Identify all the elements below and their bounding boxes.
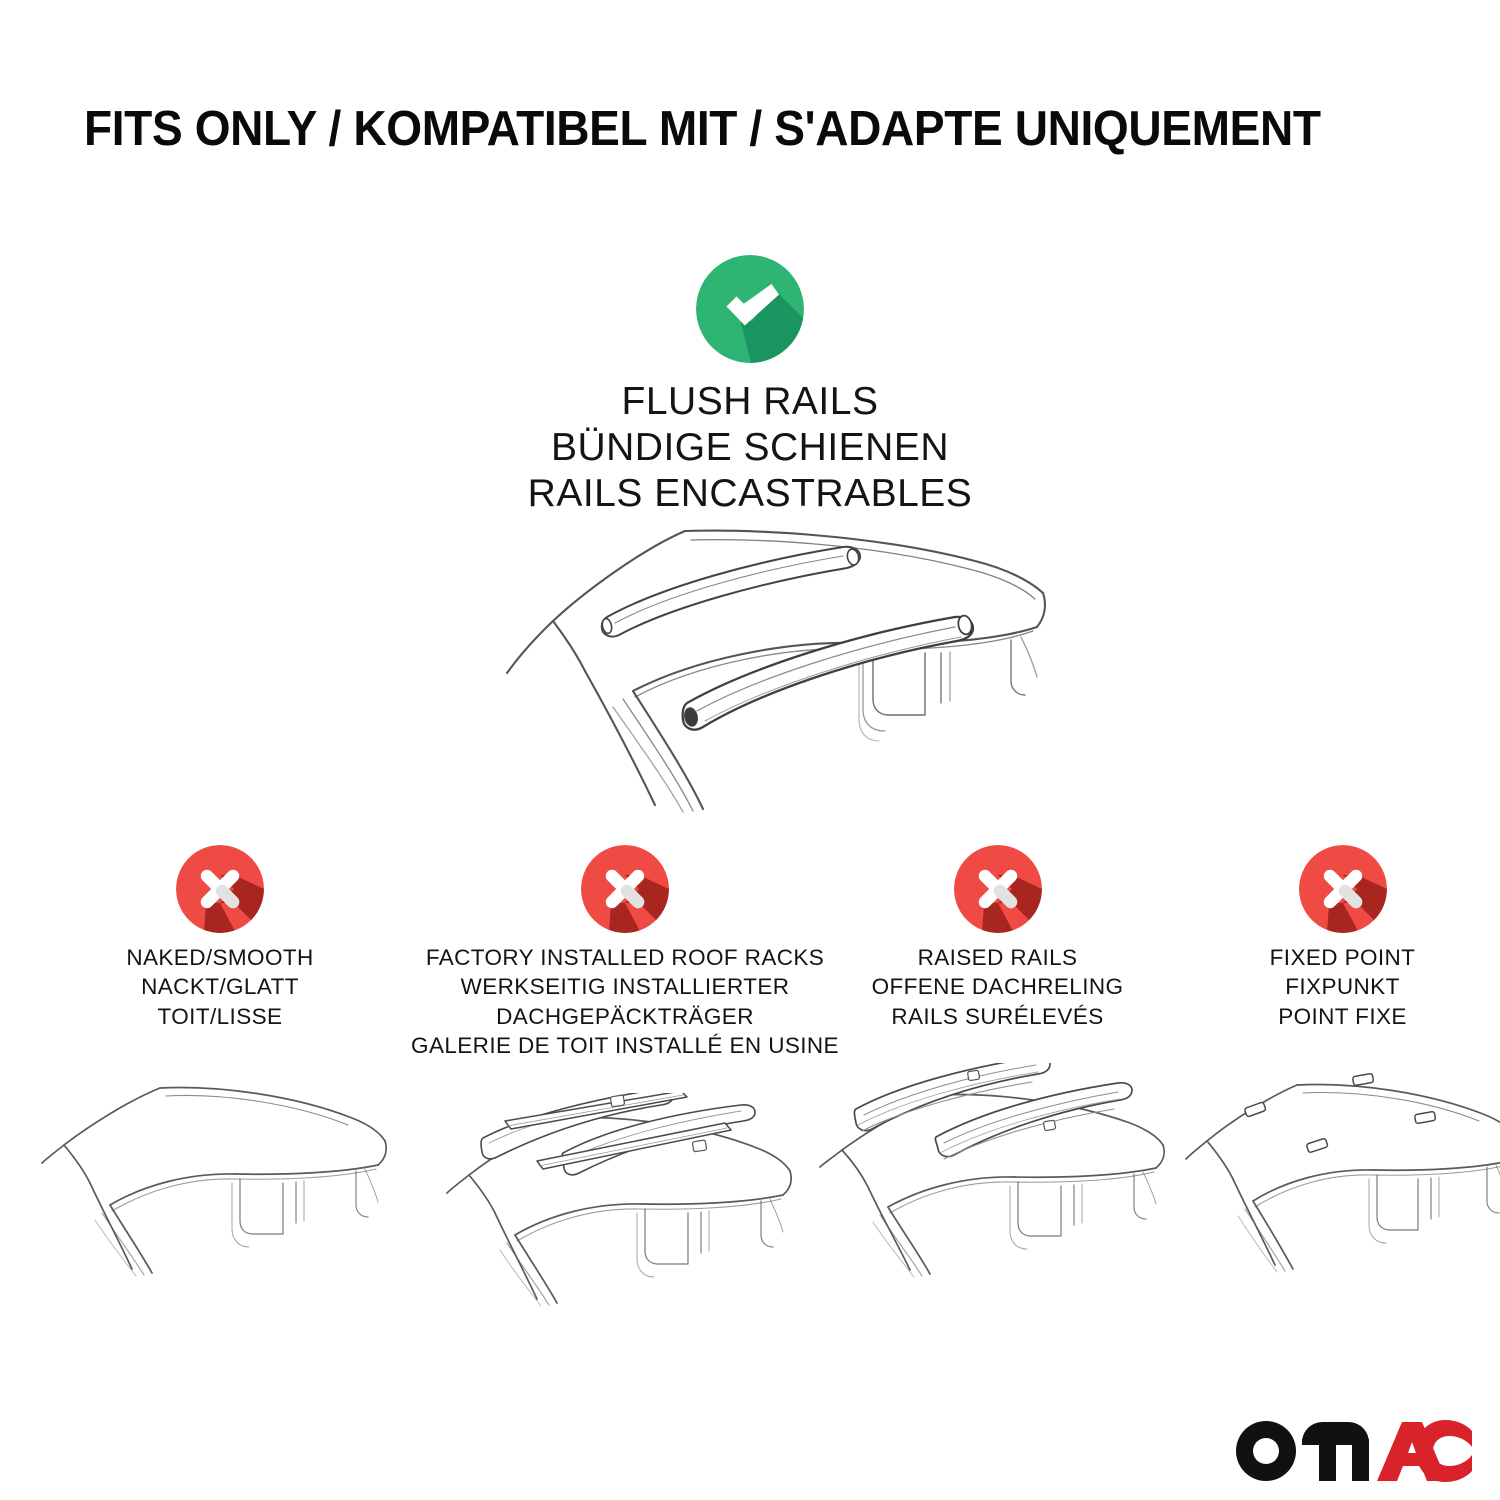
- label-line-1: FIXED POINT: [1270, 943, 1416, 972]
- cross-circle-icon: [581, 845, 669, 933]
- logo-letter-m: [1302, 1422, 1369, 1481]
- cross-circle-icon: [1299, 845, 1387, 933]
- label-line-4: GALERIE DE TOIT INSTALLÉ EN USINE: [411, 1031, 839, 1060]
- label-line-3: DACHGEPÄCKTRÄGER: [411, 1002, 839, 1031]
- label-line-3: TOIT/LISSE: [126, 1002, 313, 1031]
- incompatible-section: NAKED/SMOOTH NACKT/GLATT TOIT/LISSE: [0, 845, 1500, 1060]
- cross-circle-icon: [954, 845, 1042, 933]
- label-line-1: FACTORY INSTALLED ROOF RACKS: [411, 943, 839, 972]
- car-roof-flush-rails-illustration: [455, 513, 1075, 813]
- label-line-2: FIXPUNKT: [1270, 972, 1416, 1001]
- label-line-2: NACKT/GLATT: [126, 972, 313, 1001]
- car-roof-fixed-point-illustration: [1185, 1063, 1500, 1278]
- page-title: FITS ONLY / KOMPATIBEL MIT / S'ADAPTE UN…: [84, 104, 1344, 155]
- incompatible-label: FIXED POINT FIXPUNKT POINT FIXE: [1270, 943, 1416, 1031]
- label-line-1: RAISED RAILS: [872, 943, 1124, 972]
- car-roof-naked-smooth-illustration: [0, 1063, 440, 1278]
- incompatible-label: NAKED/SMOOTH NACKT/GLATT TOIT/LISSE: [126, 943, 313, 1031]
- compatible-label: FLUSH RAILS BÜNDIGE SCHIENEN RAILS ENCAS…: [0, 379, 1500, 517]
- incompatible-item-raised-rails: RAISED RAILS OFFENE DACHRELING RAILS SUR…: [810, 845, 1185, 1060]
- cross-circle-icon: [176, 845, 264, 933]
- label-line-3: POINT FIXE: [1270, 1002, 1416, 1031]
- omac-logo: [1232, 1409, 1472, 1485]
- fitment-infographic: FITS ONLY / KOMPATIBEL MIT / S'ADAPTE UN…: [0, 0, 1500, 1500]
- car-roof-raised-rails-illustration: [810, 1063, 1185, 1278]
- logo-letter-c: [1416, 1420, 1472, 1482]
- incompatible-item-factory-roof-racks: FACTORY INSTALLED ROOF RACKS WERKSEITIG …: [440, 845, 810, 1060]
- incompatible-item-fixed-point: FIXED POINT FIXPUNKT POINT FIXE: [1185, 845, 1500, 1060]
- compatible-label-line-2: BÜNDIGE SCHIENEN: [0, 425, 1500, 471]
- label-line-2: OFFENE DACHRELING: [872, 972, 1124, 1001]
- check-circle-icon: [696, 255, 804, 363]
- label-line-2: WERKSEITIG INSTALLIERTER: [411, 972, 839, 1001]
- label-line-3: RAILS SURÉLEVÉS: [872, 1002, 1124, 1031]
- logo-letter-o: [1236, 1421, 1296, 1481]
- label-line-1: NAKED/SMOOTH: [126, 943, 313, 972]
- incompatible-item-naked-smooth: NAKED/SMOOTH NACKT/GLATT TOIT/LISSE: [0, 845, 440, 1060]
- compatible-section: FLUSH RAILS BÜNDIGE SCHIENEN RAILS ENCAS…: [0, 255, 1500, 517]
- compatible-label-line-1: FLUSH RAILS: [0, 379, 1500, 425]
- compatible-label-line-3: RAILS ENCASTRABLES: [0, 471, 1500, 517]
- car-roof-factory-roof-racks-illustration: [440, 1093, 810, 1308]
- incompatible-label: RAISED RAILS OFFENE DACHRELING RAILS SUR…: [872, 943, 1124, 1031]
- incompatible-label: FACTORY INSTALLED ROOF RACKS WERKSEITIG …: [411, 943, 839, 1060]
